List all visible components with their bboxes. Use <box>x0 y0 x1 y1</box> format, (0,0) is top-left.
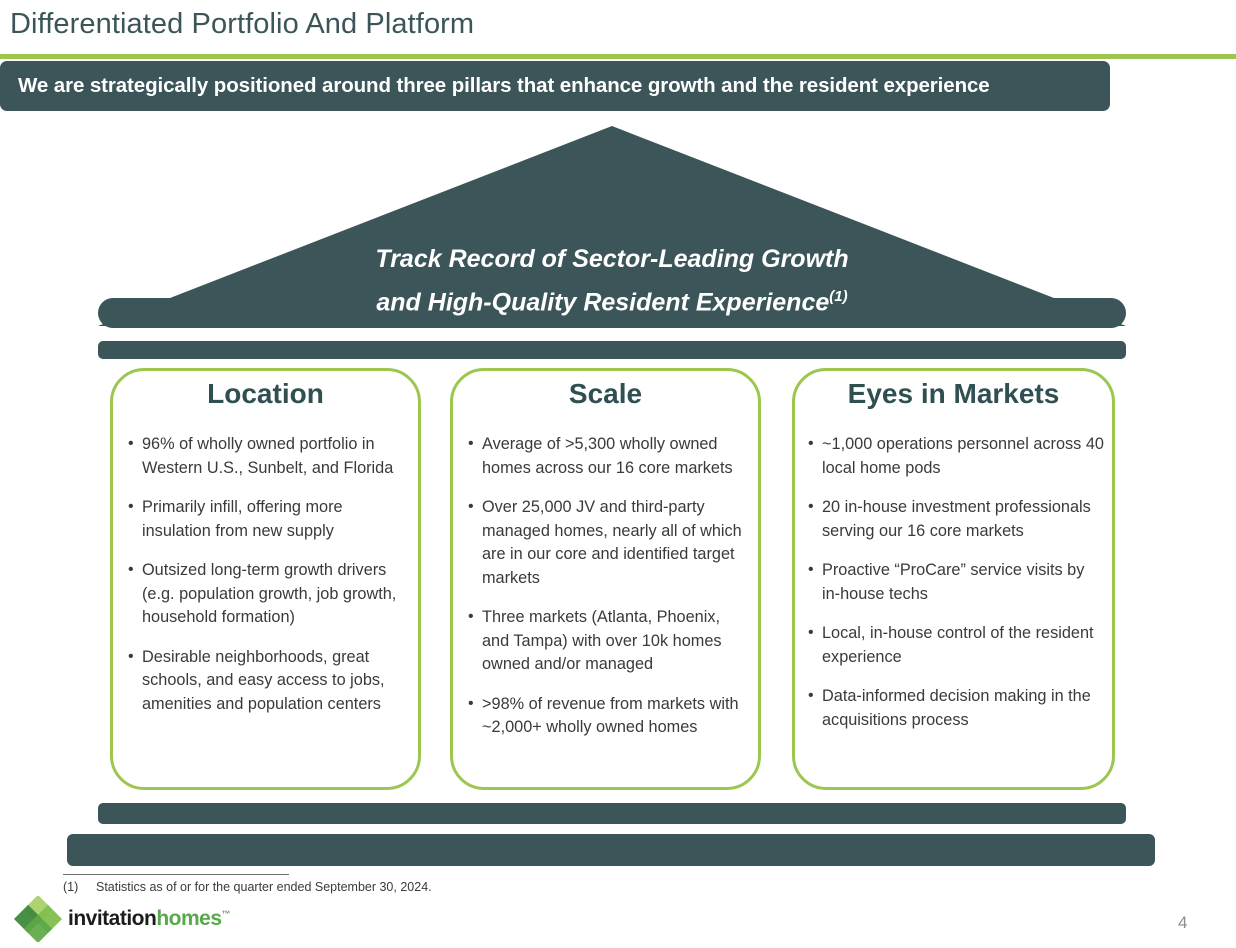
title-divider-rule <box>0 54 1236 59</box>
brand-logo: invitationhomes™ <box>12 896 242 942</box>
list-item: Proactive “ProCare” service visits by in… <box>807 559 1106 606</box>
pillar-title-location: Location <box>99 378 432 410</box>
slide-canvas: Differentiated Portfolio And Platform We… <box>0 0 1236 948</box>
architrave-bar <box>98 341 1126 359</box>
pediment-headline-line-1: Track Record of Sector-Leading Growth <box>98 240 1126 278</box>
logo-wordmark: invitationhomes™ <box>68 907 230 931</box>
list-item: ~1,000 operations personnel across 40 lo… <box>807 433 1106 480</box>
pillar-title-eyes-in-markets: Eyes in Markets <box>781 378 1126 410</box>
footnote-number: (1) <box>63 880 96 894</box>
pediment-headline: Track Record of Sector-Leading Growth an… <box>98 240 1126 321</box>
list-item: Over 25,000 JV and third-party managed h… <box>467 496 748 590</box>
stylobate-lower-bar <box>67 834 1155 866</box>
pillar-card-eyes-in-markets[interactable]: Eyes in Markets ~1,000 operations person… <box>792 368 1115 790</box>
pediment-footnote-marker: (1) <box>829 288 847 305</box>
pillar-card-location[interactable]: Location 96% of wholly owned portfolio i… <box>110 368 421 790</box>
list-item: Three markets (Atlanta, Phoenix, and Tam… <box>467 606 748 677</box>
subtitle-banner: We are strategically positioned around t… <box>0 61 1110 111</box>
list-item: >98% of revenue from markets with ~2,000… <box>467 693 748 740</box>
pillar-bullets-eyes-in-markets: ~1,000 operations personnel across 40 lo… <box>807 433 1106 748</box>
subtitle-text: We are strategically positioned around t… <box>18 74 990 98</box>
list-item: 20 in-house investment professionals ser… <box>807 496 1106 543</box>
logo-trademark: ™ <box>222 909 231 919</box>
pediment-headline-line-2-wrap: and High-Quality Resident Experience(1) <box>98 278 1126 321</box>
invitation-homes-diamond-icon <box>12 896 64 942</box>
logo-word-invitation: invitation <box>68 907 156 930</box>
list-item: Primarily infill, offering more insulati… <box>127 496 408 543</box>
logo-word-homes: homes <box>156 907 221 930</box>
list-item: Data-informed decision making in the acq… <box>807 685 1106 732</box>
page-title: Differentiated Portfolio And Platform <box>10 8 474 41</box>
list-item: Average of >5,300 wholly owned homes acr… <box>467 433 748 480</box>
list-item: 96% of wholly owned portfolio in Western… <box>127 433 408 480</box>
pillar-card-group: Location 96% of wholly owned portfolio i… <box>110 368 1115 790</box>
pillar-bullets-location: 96% of wholly owned portfolio in Western… <box>127 433 408 732</box>
footnote-text: Statistics as of or for the quarter ende… <box>96 880 432 894</box>
pillar-title-scale: Scale <box>439 378 772 410</box>
pillar-bullets-scale: Average of >5,300 wholly owned homes acr… <box>467 433 748 756</box>
page-number: 4 <box>1178 913 1187 933</box>
list-item: Local, in-house control of the resident … <box>807 622 1106 669</box>
pillar-card-scale[interactable]: Scale Average of >5,300 wholly owned hom… <box>450 368 761 790</box>
list-item: Outsized long-term growth drivers (e.g. … <box>127 559 408 630</box>
footnote: (1)Statistics as of or for the quarter e… <box>63 880 432 894</box>
list-item: Desirable neighborhoods, great schools, … <box>127 646 408 717</box>
footnote-divider-rule <box>63 874 289 875</box>
stylobate-upper-bar <box>98 803 1126 824</box>
pediment-headline-line-2: and High-Quality Resident Experience <box>376 288 829 316</box>
